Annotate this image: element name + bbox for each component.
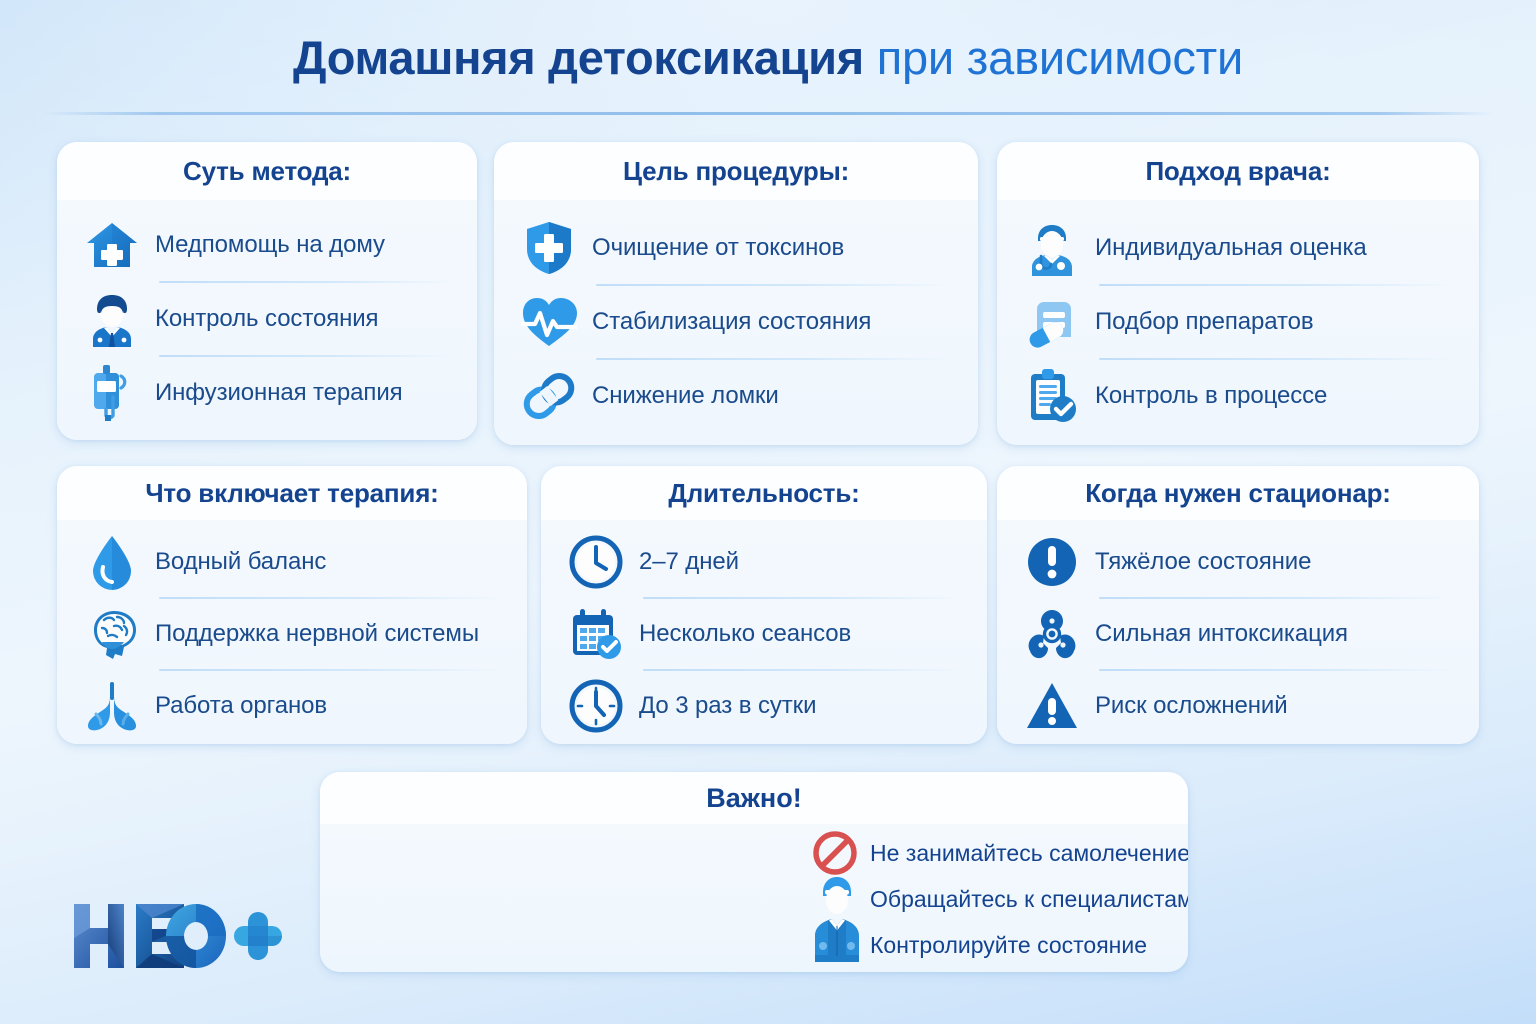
doctor-stethoscope-icon bbox=[1021, 217, 1083, 279]
shield-cross-icon bbox=[518, 217, 580, 279]
clock-icon bbox=[565, 675, 627, 737]
list-item-label: Медпомощь на дому bbox=[143, 231, 385, 259]
card-header: Важно! bbox=[320, 772, 1188, 824]
card-body: Медпомощь на дому Контроль состояния Инф… bbox=[57, 200, 477, 440]
card-body: Индивидуальная оценка Подбор препаратов … bbox=[997, 200, 1479, 445]
list-item-label: Контроль в процессе bbox=[1083, 382, 1327, 410]
list-item[interactable]: Контролируйте состояние bbox=[320, 922, 1188, 968]
list-item-label: Очищение от токсинов bbox=[580, 234, 844, 262]
list-item[interactable]: Несколько сеансов bbox=[541, 598, 987, 670]
list-item[interactable]: Обращайтесь к специалистам bbox=[320, 876, 1188, 922]
pills-icon bbox=[1021, 291, 1083, 353]
list-item-label: 2–7 дней bbox=[627, 548, 739, 576]
list-item[interactable]: Водный баланс bbox=[57, 526, 527, 598]
list-item-label: До 3 раз в сутки bbox=[627, 692, 816, 720]
list-item-label: Тяжёлое состояние bbox=[1083, 548, 1311, 576]
list-item-label: Работа органов bbox=[143, 692, 327, 720]
heart-pulse-icon bbox=[518, 291, 580, 353]
card-body: Водный баланс Поддержка нервной системы … bbox=[57, 520, 527, 744]
list-item[interactable]: 2–7 дней bbox=[541, 526, 987, 598]
list-item-label: Поддержка нервной системы bbox=[143, 620, 479, 648]
card-title: Важно! bbox=[706, 783, 801, 814]
biohazard-icon bbox=[1021, 603, 1083, 665]
list-item-label: Контролируйте состояние bbox=[870, 932, 1147, 959]
card-body: Тяжёлое состояние Сильная интоксикация Р… bbox=[997, 520, 1479, 744]
water-drop-icon bbox=[81, 531, 143, 593]
clock-icon bbox=[565, 531, 627, 593]
list-item[interactable]: Тяжёлое состояние bbox=[997, 526, 1479, 598]
list-item-label: Контроль состояния bbox=[143, 305, 378, 333]
card-cel-procedury: Цель процедуры: Очищение от токсинов Ста… bbox=[494, 142, 978, 445]
card-chto-vklyuchaet-terapiya: Что включает терапия: Водный баланс Подд… bbox=[57, 466, 527, 744]
card-title: Когда нужен стационар: bbox=[1085, 478, 1391, 509]
card-dlitelnost: Длительность: 2–7 дней Несколько сеансов… bbox=[541, 466, 987, 744]
card-kogda-nuzhen-stacionar: Когда нужен стационар: Тяжёлое состояние… bbox=[997, 466, 1479, 744]
list-item[interactable]: Стабилизация состояния bbox=[494, 285, 978, 359]
card-vazhno: Важно! Не занимайтесь самолечением Обращ… bbox=[320, 772, 1188, 972]
warning-triangle-icon bbox=[1021, 675, 1083, 737]
card-body: Очищение от токсинов Стабилизация состоя… bbox=[494, 200, 978, 445]
card-header: Цель процедуры: bbox=[494, 142, 978, 200]
doctor-person-icon bbox=[81, 288, 143, 350]
list-item-label: Несколько сеансов bbox=[627, 620, 851, 648]
list-item[interactable]: До 3 раз в сутки bbox=[541, 670, 987, 742]
header-divider bbox=[42, 112, 1494, 115]
list-item-label: Подбор препаратов bbox=[1083, 308, 1314, 336]
card-body: Не занимайтесь самолечением Обращайтесь … bbox=[320, 824, 1188, 972]
clipboard-check-icon bbox=[1021, 365, 1083, 427]
list-item[interactable]: Сильная интоксикация bbox=[997, 598, 1479, 670]
card-title: Что включает терапия: bbox=[145, 478, 438, 509]
house-cross-icon bbox=[81, 214, 143, 276]
infographic-page: Домашняя детоксикация при зависимости Су… bbox=[0, 0, 1536, 1024]
list-item-label: Индивидуальная оценка bbox=[1083, 234, 1367, 262]
chain-link-icon bbox=[518, 365, 580, 427]
card-title: Цель процедуры: bbox=[623, 156, 849, 187]
list-item-label: Инфузионная терапия bbox=[143, 379, 403, 407]
list-item[interactable]: Инфузионная терапия bbox=[57, 356, 477, 430]
list-item[interactable]: Контроль в процессе bbox=[997, 359, 1479, 433]
card-podhod-vracha: Подход врача: Индивидуальная оценка Подб… bbox=[997, 142, 1479, 445]
card-header: Что включает терапия: bbox=[57, 466, 527, 520]
card-sut-metoda: Суть метода: Медпомощь на дому Контроль … bbox=[57, 142, 477, 440]
list-item[interactable]: Медпомощь на дому bbox=[57, 208, 477, 282]
list-item-label: Риск осложнений bbox=[1083, 692, 1288, 720]
card-header: Суть метода: bbox=[57, 142, 477, 200]
list-item-label: Не занимайтесь самолечением bbox=[870, 840, 1188, 867]
list-item[interactable]: Риск осложнений bbox=[997, 670, 1479, 742]
list-item[interactable]: Поддержка нервной системы bbox=[57, 598, 527, 670]
page-title: Домашняя детоксикация при зависимости bbox=[0, 34, 1536, 81]
page-title-strong: Домашняя детоксикация bbox=[293, 31, 864, 84]
brain-icon bbox=[81, 603, 143, 665]
exclamation-circle-icon bbox=[1021, 531, 1083, 593]
list-item[interactable]: Снижение ломки bbox=[494, 359, 978, 433]
page-title-light: при зависимости bbox=[864, 31, 1243, 84]
calendar-check-icon bbox=[565, 603, 627, 665]
list-item[interactable]: Индивидуальная оценка bbox=[997, 211, 1479, 285]
list-item-label: Обращайтесь к специалистам bbox=[870, 886, 1188, 913]
card-title: Подход врача: bbox=[1145, 156, 1330, 187]
card-title: Длительность: bbox=[668, 478, 859, 509]
list-item-label: Сильная интоксикация bbox=[1083, 620, 1348, 648]
list-item[interactable]: Работа органов bbox=[57, 670, 527, 742]
list-item-label: Водный баланс bbox=[143, 548, 326, 576]
card-header: Длительность: bbox=[541, 466, 987, 520]
card-header: Когда нужен стационар: bbox=[997, 466, 1479, 520]
list-item[interactable]: Не занимайтесь самолечением bbox=[320, 830, 1188, 876]
card-title: Суть метода: bbox=[183, 156, 351, 187]
iv-drip-icon bbox=[81, 362, 143, 424]
list-item[interactable]: Подбор препаратов bbox=[997, 285, 1479, 359]
list-item-label: Стабилизация состояния bbox=[580, 308, 871, 336]
card-header: Подход врача: bbox=[997, 142, 1479, 200]
lungs-icon bbox=[81, 675, 143, 737]
brand-logo[interactable] bbox=[70, 898, 285, 974]
list-item[interactable]: Контроль состояния bbox=[57, 282, 477, 356]
list-item-label: Снижение ломки bbox=[580, 382, 779, 410]
card-body: 2–7 дней Несколько сеансов До 3 раз в су… bbox=[541, 520, 987, 744]
list-item[interactable]: Очищение от токсинов bbox=[494, 211, 978, 285]
